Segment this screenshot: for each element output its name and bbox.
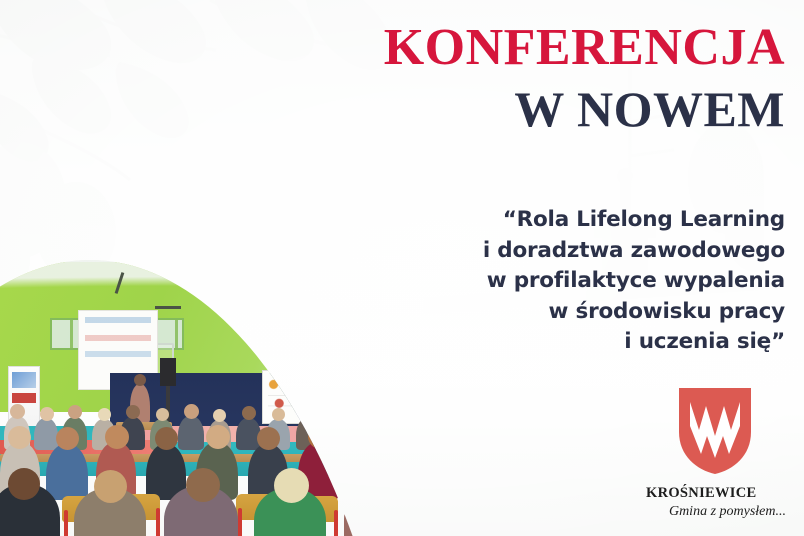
roll-up-banner <box>398 344 440 442</box>
conference-topic-quote: “Rola Lifelong Learning i doradztwa zawo… <box>425 205 785 358</box>
poster-headline: KONFERENCJA W NOWEM <box>265 22 785 134</box>
quote-line: i doradztwa zawodowego <box>425 236 785 267</box>
quote-line: w profilaktyce wypalenia <box>425 266 785 297</box>
audience <box>0 398 560 536</box>
quote-line: i uczenia się” <box>425 327 785 358</box>
coat-of-arms-icon <box>677 386 753 476</box>
conference-poster: KONFERENCJA W NOWEM “Rola Lifelong Learn… <box>0 0 804 536</box>
ceiling-lamp <box>185 252 225 264</box>
quote-line: w środowisku pracy <box>425 297 785 328</box>
logo-municipality-name: KROŚNIEWICE <box>640 485 790 502</box>
logo-tagline: Gmina z pomysłem... <box>640 504 790 520</box>
headline-line-1: KONFERENCJA <box>265 22 785 74</box>
headline-line-2: W NOWEM <box>265 84 785 134</box>
quote-line: “Rola Lifelong Learning <box>425 205 785 236</box>
flipchart <box>308 370 348 424</box>
krosniewice-logo: KROŚNIEWICE Gmina z pomysłem... <box>640 386 790 520</box>
